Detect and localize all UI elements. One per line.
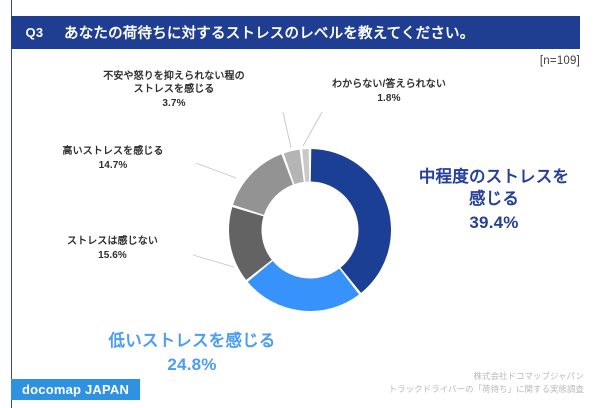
label-low-pct: 24.8%	[64, 354, 320, 377]
leader-line-dontknow	[303, 112, 322, 146]
label-dontknow: わからない/答えられない 1.8%	[304, 78, 474, 105]
label-mid: 中程度のストレスを 感じる 39.4%	[396, 166, 592, 235]
label-dontknow-line1: わからない/答えられない	[304, 78, 474, 91]
label-mid-pct: 39.4%	[396, 212, 592, 235]
label-mid-line1: 中程度のストレスを	[396, 166, 592, 188]
label-mid-line2: 感じる	[396, 188, 592, 210]
question-title-bar: あなたの荷待ちに対するストレスのレベルを教えてください。	[51, 16, 580, 49]
label-dontknow-pct: 1.8%	[304, 92, 474, 105]
donut-segment	[302, 149, 309, 182]
leader-line-high	[196, 163, 236, 178]
label-low-line1: 低いストレスを感じる	[64, 330, 320, 352]
label-high: 高いストレスを感じる 14.7%	[28, 145, 198, 172]
leader-lines	[193, 112, 322, 267]
label-anger-line1: 不安や怒りを抑えられない程の	[74, 70, 274, 83]
label-low: 低いストレスを感じる 24.8%	[64, 330, 320, 377]
donut-segment	[229, 207, 272, 280]
credit-company: 株式会社ドコマップジャパン	[389, 370, 584, 383]
docomap-logo-label: docomap JAPAN	[22, 382, 129, 397]
label-none-line1: ストレスは感じない	[30, 235, 195, 248]
donut-segment	[311, 149, 391, 293]
sample-size-label: [n=109]	[540, 55, 580, 67]
donut-segment	[248, 261, 359, 311]
docomap-logo-badge: docomap JAPAN	[11, 379, 140, 400]
credit-survey: トラックドライバーの「荷待ち」に関する実態調査	[389, 383, 584, 396]
left-accent-rule	[11, 0, 12, 408]
slide-canvas: Q3 あなたの荷待ちに対するストレスのレベルを教えてください。 [n=109] …	[0, 0, 602, 408]
credit-block: 株式会社ドコマップジャパン トラックドライバーの「荷待ち」に関する実態調査	[389, 370, 584, 396]
donut-segment	[284, 150, 304, 184]
label-none-pct: 15.6%	[30, 249, 195, 262]
question-number-label: Q3	[26, 25, 44, 40]
page-title: あなたの荷待ちに対するストレスのレベルを教えてください。	[64, 22, 474, 43]
label-high-pct: 14.7%	[28, 159, 198, 172]
label-high-line1: 高いストレスを感じる	[28, 145, 198, 158]
label-anger-pct: 3.7%	[74, 97, 274, 110]
label-none: ストレスは感じない 15.6%	[30, 235, 195, 262]
label-anger: 不安や怒りを抑えられない程の ストレスを感じる 3.7%	[74, 70, 274, 111]
leader-line-none	[193, 255, 234, 267]
leader-line-anger	[283, 112, 291, 148]
donut-segments	[229, 149, 391, 311]
label-anger-line2: ストレスを感じる	[74, 83, 274, 96]
donut-segment	[233, 154, 293, 215]
